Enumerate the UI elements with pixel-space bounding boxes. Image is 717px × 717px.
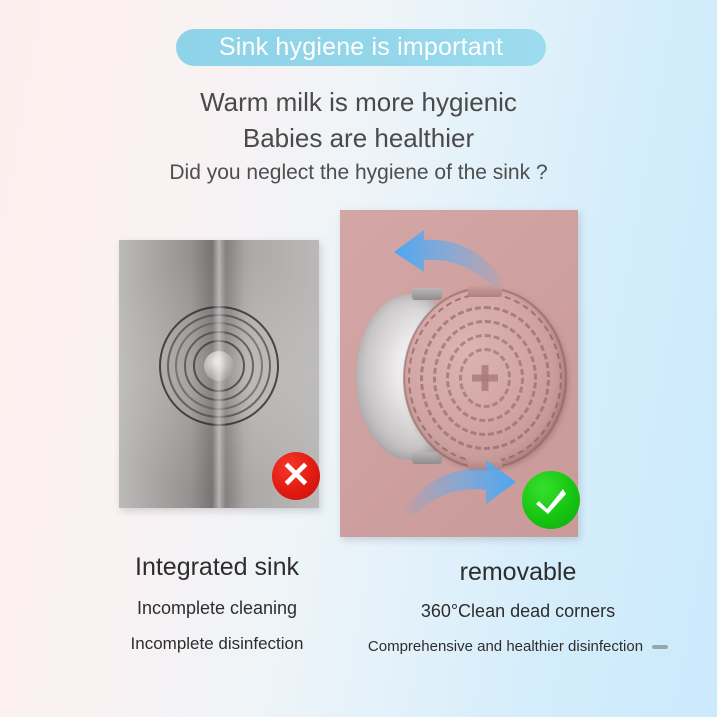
drain-cover-assembly <box>354 288 566 468</box>
headline-line-2: Babies are healthier <box>0 120 717 156</box>
headline-block: Warm milk is more hygienic Babies are he… <box>0 84 717 190</box>
check-mark-icon <box>522 471 580 529</box>
x-mark-icon: ✕ <box>272 452 320 500</box>
right-caption-title: removable <box>318 558 717 587</box>
right-caption-line-2: Comprehensive and healthier disinfection <box>318 638 717 655</box>
check-glyph <box>531 480 571 520</box>
rotate-right-arrow-icon <box>402 458 522 520</box>
cover-tab-top <box>468 286 502 297</box>
banner-title-text: Sink hygiene is important <box>219 35 503 60</box>
banner-title-pill: Sink hygiene is important <box>176 29 546 66</box>
trailing-dash-icon <box>652 645 668 649</box>
promo-poster: Sink hygiene is important Warm milk is m… <box>0 0 717 717</box>
right-caption-line-2-text: Comprehensive and healthier disinfection <box>368 638 643 655</box>
removable-cover <box>404 288 566 468</box>
bowl-tab-top <box>412 288 442 300</box>
rotate-left-arrow-icon <box>388 228 508 290</box>
right-caption-line-1: 360°Clean dead corners <box>318 601 717 622</box>
cover-cross-horizontal <box>472 375 498 382</box>
steel-glare <box>212 240 226 508</box>
headline-line-3: Did you neglect the hygiene of the sink … <box>0 156 717 190</box>
x-mark-glyph: ✕ <box>281 457 311 493</box>
headline-line-1: Warm milk is more hygienic <box>0 84 717 120</box>
